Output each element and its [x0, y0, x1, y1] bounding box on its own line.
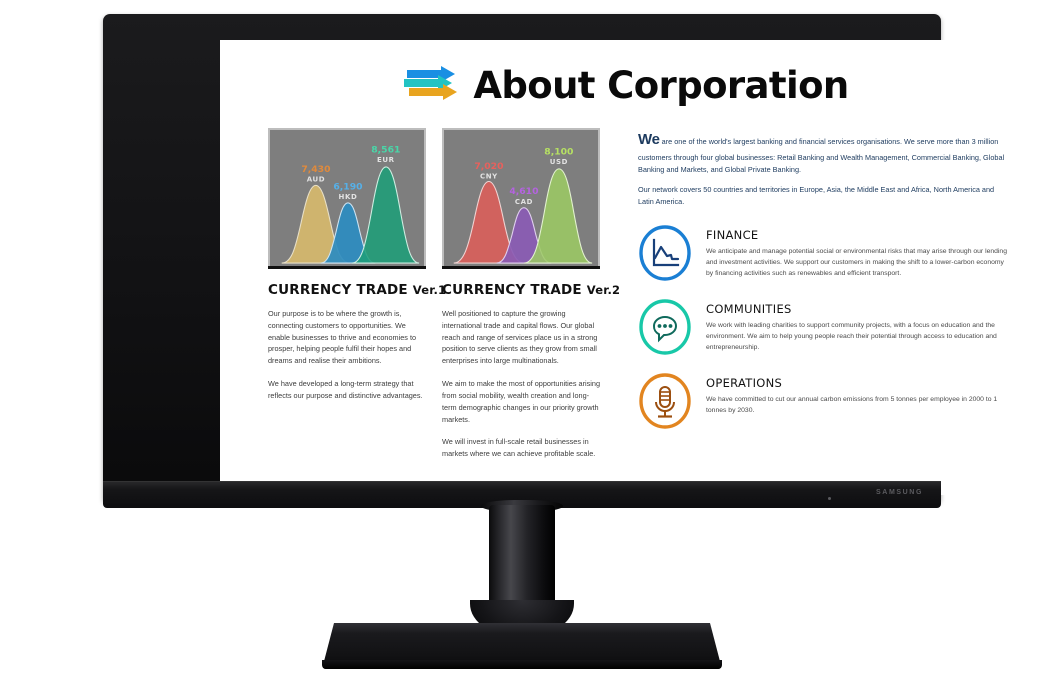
line-chart-circle-icon	[638, 224, 692, 282]
card-paragraph: We have developed a long-term strategy t…	[268, 378, 428, 402]
chart1-value-hkd: 6,190	[333, 181, 362, 192]
monitor-bezel: About Corporation	[103, 14, 941, 501]
chart2-value-usd: 8,100	[544, 146, 573, 157]
microphone-circle-icon	[638, 372, 692, 430]
chart2-value-cny: 7,020	[474, 161, 503, 172]
card-currency-trade-v2: 7,020 CNY 4,610 CAD 8,100 USD CURRENCY T…	[442, 128, 602, 471]
monitor-base-edge	[322, 660, 722, 669]
card-title-main: CURRENCY TRADE	[442, 282, 582, 298]
monitor-brand-label: SAMSUNG	[876, 489, 923, 496]
feature-operations-text: OPERATIONS We have committed to cut our …	[706, 372, 1008, 416]
chart1-value-eur: 8,561	[371, 144, 400, 155]
chart2-label-cad: CAD	[515, 198, 533, 206]
chart1-value-aud: 7,430	[301, 164, 330, 175]
intro-lead-word: We	[638, 131, 660, 148]
triple-arrow-logo-icon	[401, 64, 463, 106]
about-column: We are one of the world's largest bankin…	[616, 128, 1008, 471]
feature-body: We have committed to cut our annual carb…	[706, 394, 1008, 416]
intro-paragraph-2: Our network covers 50 countries and terr…	[638, 184, 1008, 207]
feature-finance-text: FINANCE We anticipate and manage potenti…	[706, 224, 1008, 279]
intro-paragraph-1: We are one of the world's largest bankin…	[638, 128, 1008, 175]
card-paragraph: We aim to make the most of opportunities…	[442, 378, 602, 425]
presentation-slide: About Corporation	[220, 40, 1030, 495]
chart1-label-eur: EUR	[377, 156, 395, 164]
card-body-v1: Our purpose is to be where the growth is…	[268, 308, 428, 402]
scene: About Corporation	[0, 0, 1050, 700]
feature-operations: OPERATIONS We have committed to cut our …	[638, 372, 1008, 430]
feature-body: We work with leading charities to suppor…	[706, 320, 1008, 353]
feature-heading: OPERATIONS	[706, 376, 1008, 390]
intro-block: We are one of the world's largest bankin…	[638, 128, 1008, 208]
feature-finance: FINANCE We anticipate and manage potenti…	[638, 224, 1008, 282]
chart1-label-hkd: HKD	[339, 193, 358, 201]
intro-paragraph-1-text: are one of the world's largest banking a…	[638, 137, 1004, 174]
speech-bubble-circle-icon	[638, 298, 692, 356]
page-title: About Corporation	[473, 67, 848, 104]
card-paragraph: Our purpose is to be where the growth is…	[268, 308, 428, 367]
chart2-label-usd: USD	[550, 158, 568, 166]
card-body-v2: Well positioned to capture the growing i…	[442, 308, 602, 460]
card-title-v2: CURRENCY TRADE Ver.2	[442, 282, 602, 298]
card-title-main: CURRENCY TRADE	[268, 282, 408, 298]
chart2-value-cad: 4,610	[509, 186, 538, 197]
chart1-label-aud: AUD	[307, 175, 325, 183]
slide-canvas: About Corporation	[220, 40, 1030, 495]
slide-header: About Corporation	[220, 64, 1030, 106]
card-title-v1: CURRENCY TRADE Ver.1	[268, 282, 428, 298]
card-paragraph: Well positioned to capture the growing i…	[442, 308, 602, 367]
card-currency-trade-v1: 7,430 AUD 6,190 HKD 8,561 EUR CURRENCY T…	[268, 128, 428, 471]
feature-heading: COMMUNITIES	[706, 302, 1008, 316]
feature-body: We anticipate and manage potential socia…	[706, 246, 1008, 279]
feature-communities: COMMUNITIES We work with leading chariti…	[638, 298, 1008, 356]
power-led-icon	[828, 497, 831, 500]
chart2-label-cny: CNY	[480, 173, 498, 181]
card-paragraph: We will invest in full-scale retail busi…	[442, 436, 602, 460]
monitor-screen: About Corporation	[220, 40, 1030, 495]
chart-currency-trade-v2: 7,020 CNY 4,610 CAD 8,100 USD	[442, 128, 600, 268]
feature-heading: FINANCE	[706, 228, 1008, 242]
chart-currency-trade-v1: 7,430 AUD 6,190 HKD 8,561 EUR	[268, 128, 426, 268]
feature-communities-text: COMMUNITIES We work with leading chariti…	[706, 298, 1008, 353]
slide-columns: 7,430 AUD 6,190 HKD 8,561 EUR CURRENCY T…	[268, 128, 1008, 471]
